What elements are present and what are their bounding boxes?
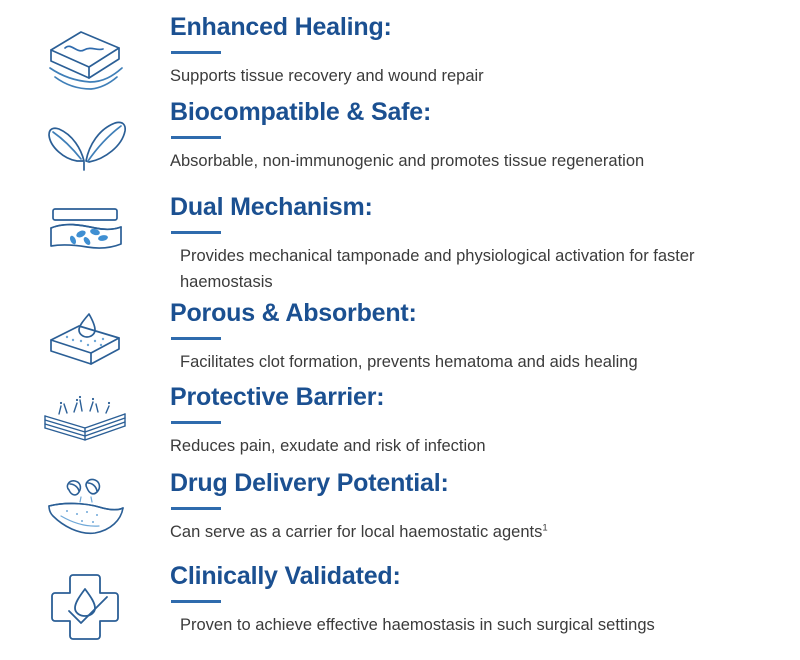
feature-item-dual-mechanism: Dual Mechanism: Provides mechanical tamp… xyxy=(0,194,800,296)
sponge-pad-wave-icon xyxy=(37,20,133,92)
heading-underline xyxy=(171,421,221,424)
feature-item-protective-barrier: Protective Barrier: Reduces pain, exudat… xyxy=(0,384,800,459)
feature-text-cell: Dual Mechanism: Provides mechanical tamp… xyxy=(170,194,800,296)
feature-item-clinically-validated: Clinically Validated: Proven to achieve … xyxy=(0,563,800,645)
feature-icon-cell xyxy=(0,300,170,372)
feature-body: Can serve as a carrier for local haemost… xyxy=(170,519,780,546)
feature-body-text: Can serve as a carrier for local haemost… xyxy=(170,523,542,541)
feature-item-porous-absorbent: Porous & Absorbent: Facilitates clot for… xyxy=(0,300,800,375)
heading-underline xyxy=(171,600,221,603)
feature-body: Proven to achieve effective haemostasis … xyxy=(180,612,780,639)
capsules-sponge-icon xyxy=(37,476,133,540)
feature-icon-cell xyxy=(0,14,170,92)
feature-icon-cell xyxy=(0,99,170,171)
feature-item-enhanced-healing: Enhanced Healing: Supports tissue recove… xyxy=(0,14,800,92)
heading-underline xyxy=(171,337,221,340)
feature-heading: Clinically Validated: xyxy=(170,563,780,591)
feature-text-cell: Porous & Absorbent: Facilitates clot for… xyxy=(170,300,800,375)
feature-text-cell: Enhanced Healing: Supports tissue recove… xyxy=(170,14,800,89)
footnote-marker: 1 xyxy=(542,522,547,533)
feature-body: Reduces pain, exudate and risk of infect… xyxy=(170,433,780,460)
feature-heading: Drug Delivery Potential: xyxy=(170,470,780,498)
feature-heading: Biocompatible & Safe: xyxy=(170,99,780,127)
feature-icon-cell xyxy=(0,563,170,645)
feature-text-cell: Clinically Validated: Proven to achieve … xyxy=(170,563,800,638)
feature-body: Facilitates clot formation, prevents hem… xyxy=(180,349,780,376)
feature-text-cell: Biocompatible & Safe: Absorbable, non-im… xyxy=(170,99,800,174)
feature-text-cell: Protective Barrier: Reduces pain, exudat… xyxy=(170,384,800,459)
feature-text-cell: Drug Delivery Potential: Can serve as a … xyxy=(170,470,800,545)
feature-heading: Enhanced Healing: xyxy=(170,14,780,42)
features-list: Enhanced Healing: Supports tissue recove… xyxy=(0,0,800,660)
heading-underline xyxy=(171,231,221,234)
heading-underline xyxy=(171,507,221,510)
heading-underline xyxy=(171,51,221,54)
feature-body: Supports tissue recovery and wound repai… xyxy=(170,63,780,90)
leaves-icon xyxy=(37,105,133,171)
feature-icon-cell xyxy=(0,470,170,540)
dual-layer-cells-icon xyxy=(37,200,133,262)
heading-underline xyxy=(171,136,221,139)
feature-icon-cell xyxy=(0,384,170,448)
feature-icon-cell xyxy=(0,194,170,262)
medical-cross-check-icon xyxy=(37,569,133,645)
porous-block-droplet-icon xyxy=(37,306,133,372)
layered-barrier-icon xyxy=(37,390,133,448)
feature-heading: Protective Barrier: xyxy=(170,384,780,412)
feature-body: Absorbable, non-immunogenic and promotes… xyxy=(170,148,780,175)
feature-body: Provides mechanical tamponade and physio… xyxy=(180,243,720,296)
feature-heading: Dual Mechanism: xyxy=(170,194,780,222)
feature-item-drug-delivery-potential: Drug Delivery Potential: Can serve as a … xyxy=(0,470,800,545)
feature-item-biocompatible-safe: Biocompatible & Safe: Absorbable, non-im… xyxy=(0,99,800,174)
feature-heading: Porous & Absorbent: xyxy=(170,300,780,328)
